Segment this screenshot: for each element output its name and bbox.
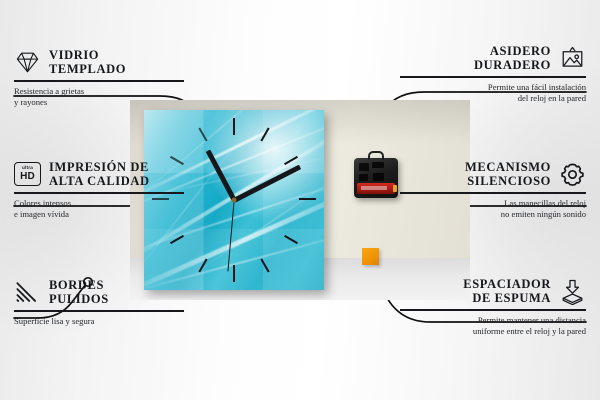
foam-spacer-icon: [559, 278, 586, 305]
clock-tick: [233, 118, 235, 135]
feature-title: VIDRIO TEMPLADO: [49, 48, 126, 76]
mechanism-battery: [357, 183, 395, 194]
feature-impresion: ultra HD IMPRESIÓN DE ALTA CALIDAD Color…: [14, 160, 200, 220]
clock-mechanism: [354, 158, 398, 198]
feature-desc: Permite mantener una distancia uniforme …: [400, 315, 586, 337]
feature-title: MECANISMO SILENCIOSO: [465, 160, 551, 188]
feature-rule: [400, 192, 586, 194]
clock-center-cap: [232, 198, 237, 203]
clock-tick: [233, 265, 235, 282]
gear-icon: [559, 161, 586, 188]
feature-desc: Permite una fácil instalación del reloj …: [400, 82, 586, 104]
infographic-canvas: VIDRIO TEMPLADO Resistencia a grietas y …: [0, 0, 600, 400]
feature-rule: [400, 309, 586, 311]
feature-rule: [14, 192, 184, 194]
feature-rule: [14, 80, 184, 82]
feature-title: BORDES PULIDOS: [49, 278, 109, 306]
diamond-icon: [14, 49, 41, 76]
clock-tick: [299, 198, 316, 200]
feature-bordes: BORDES PULIDOS Superficie lisa y segura: [14, 278, 200, 327]
feature-desc: Superficie lisa y segura: [14, 316, 200, 327]
feature-vidrio: VIDRIO TEMPLADO Resistencia a grietas y …: [14, 48, 200, 108]
ultra-hd-icon: ultra HD: [14, 162, 41, 186]
feature-desc: Colores intensos e imagen vívida: [14, 198, 200, 220]
feature-title: ESPACIADOR DE ESPUMA: [463, 277, 551, 305]
picture-hanger-icon: [559, 45, 586, 72]
feature-espaciador: ESPACIADOR DE ESPUMA Permite mantener un…: [400, 277, 586, 337]
foam-spacer: [362, 248, 379, 265]
mechanism-hook: [368, 151, 384, 160]
feature-title: ASIDERO DURADERO: [474, 44, 551, 72]
feature-rule: [400, 76, 586, 78]
feature-desc: Resistencia a grietas y rayones: [14, 86, 200, 108]
feature-mecanismo: MECANISMO SILENCIOSO Las manecillas del …: [400, 160, 586, 220]
feature-title: IMPRESIÓN DE ALTA CALIDAD: [49, 160, 150, 188]
feature-asidero: ASIDERO DURADERO Permite una fácil insta…: [400, 44, 586, 104]
feature-desc: Las manecillas del reloj no emiten ningú…: [400, 198, 586, 220]
polished-edge-icon: [14, 279, 41, 306]
feature-rule: [14, 310, 184, 312]
